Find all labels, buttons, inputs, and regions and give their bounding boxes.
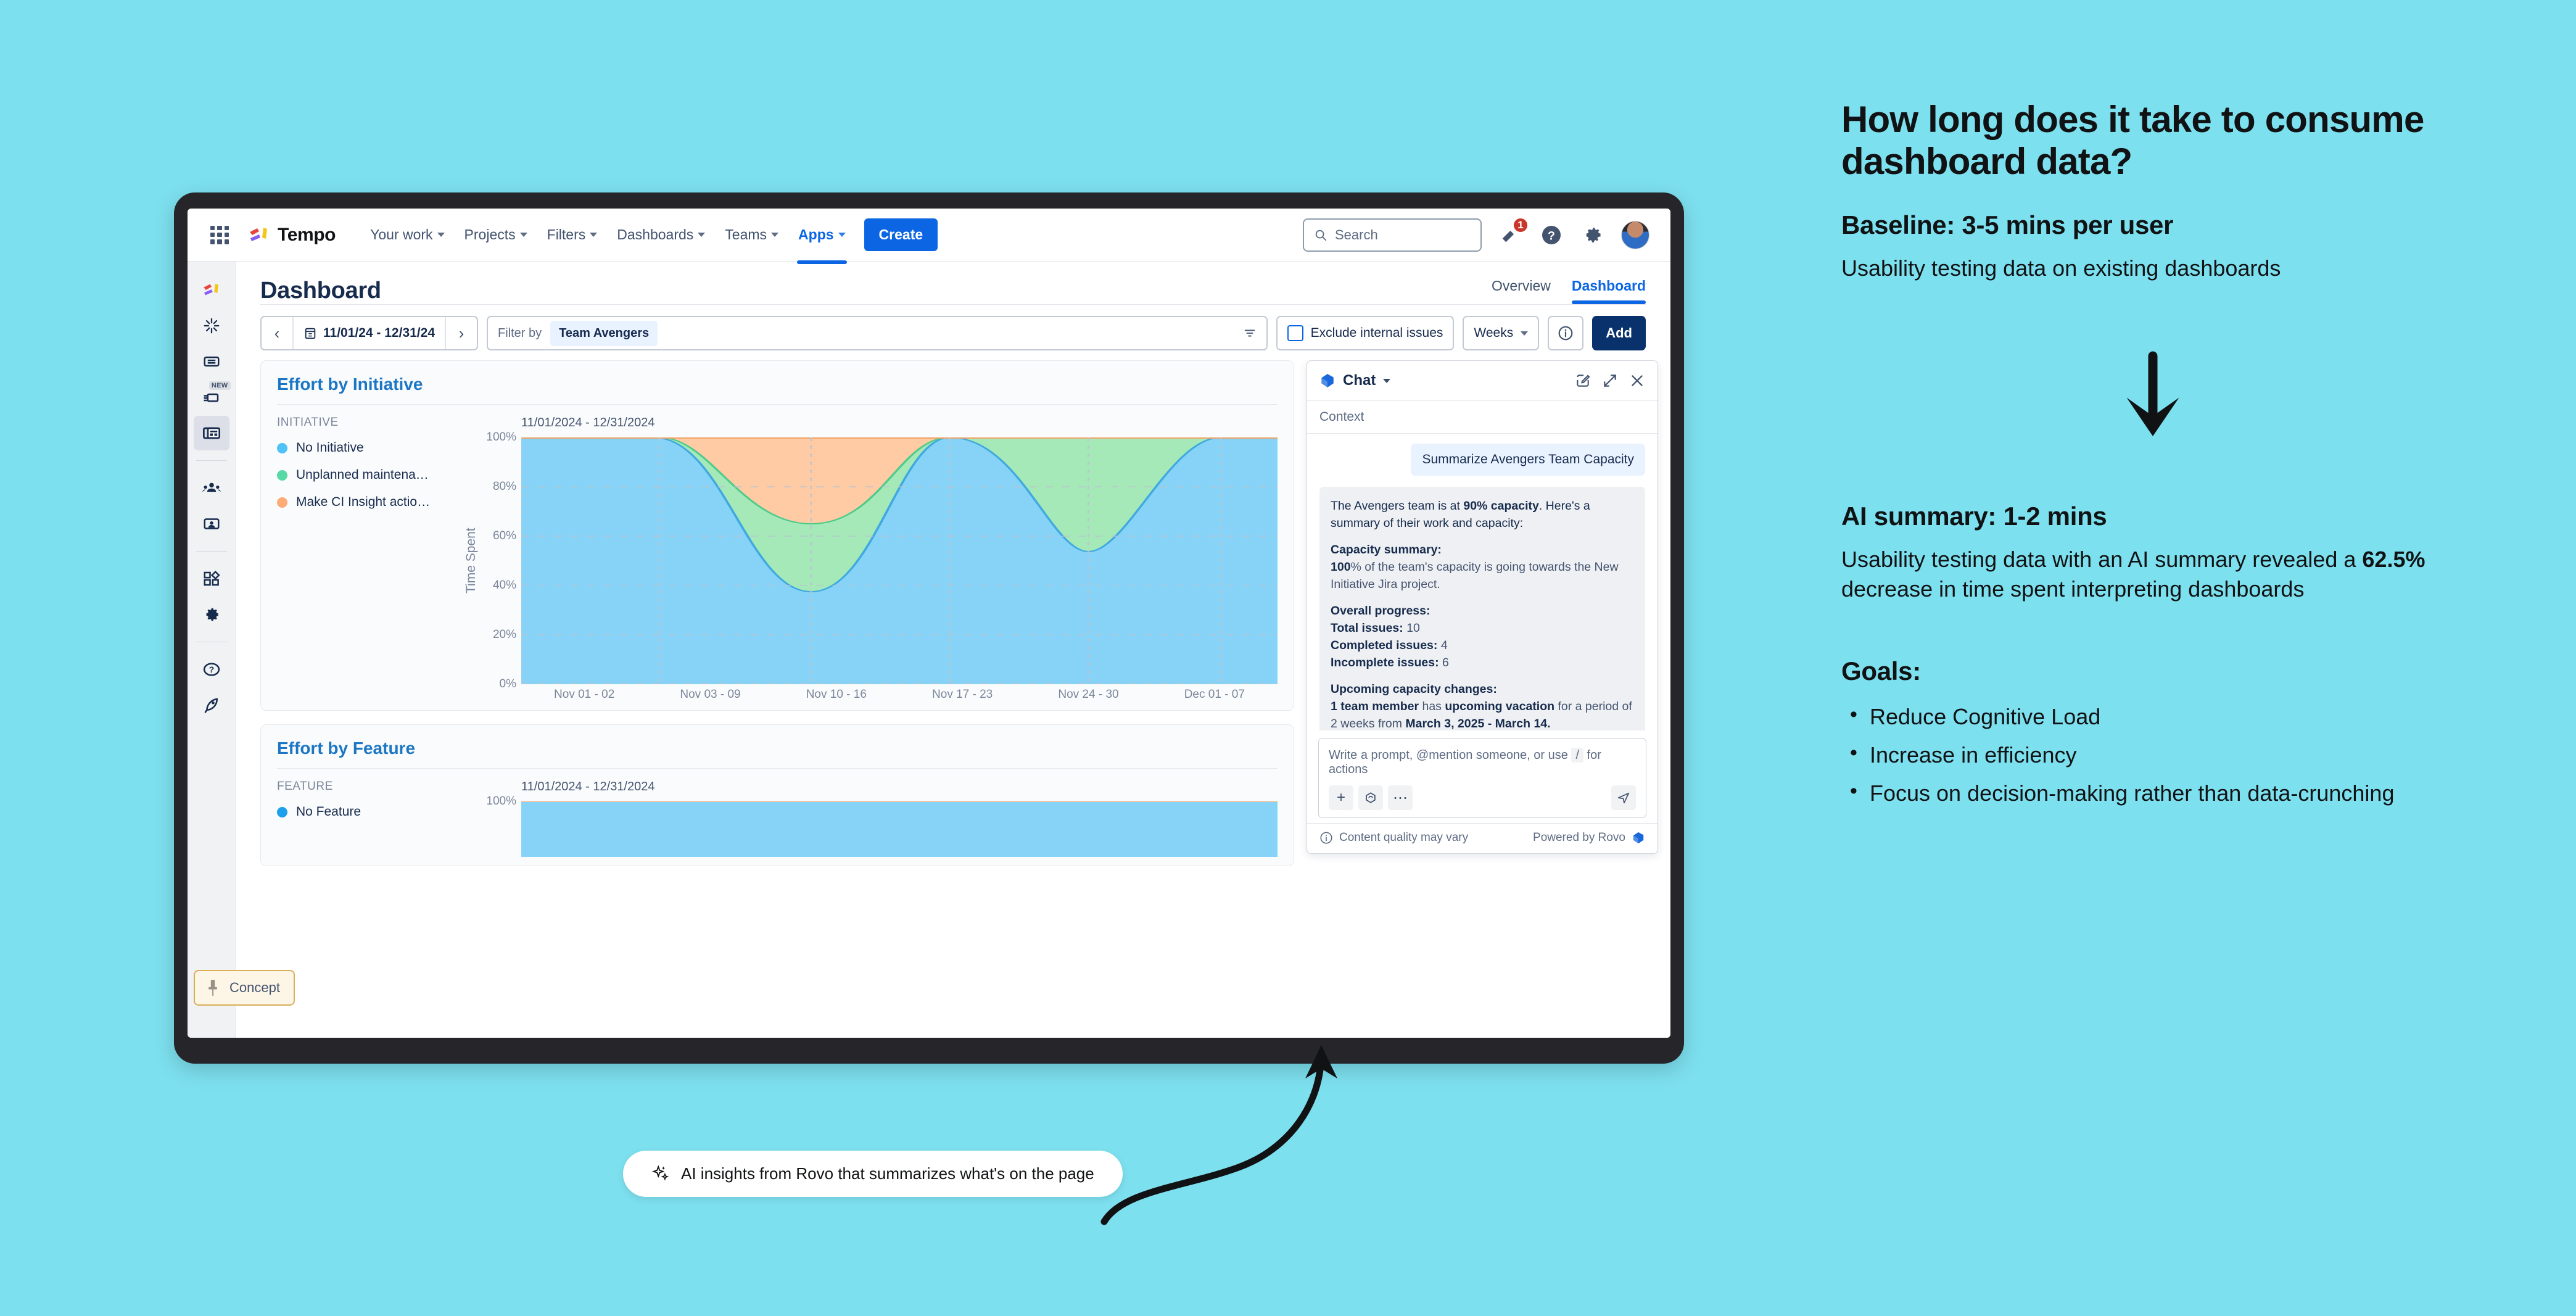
legend-color-dot (277, 807, 287, 817)
legend-label: No Initiative (296, 441, 364, 455)
chevron-down-icon (1521, 331, 1528, 336)
x-axis-ticks: Nov 01 - 02 Nov 03 - 09 Nov 10 - 16 Nov … (462, 688, 1278, 701)
nav-label: Your work (370, 226, 432, 243)
chevron-down-icon[interactable] (1383, 379, 1390, 383)
x-tick: Nov 24 - 30 (1025, 688, 1151, 701)
caption-pill: AI insights from Rovo that summarizes wh… (623, 1151, 1123, 1197)
sidebar-item-teams[interactable] (194, 471, 229, 505)
slash-key: / (1571, 748, 1583, 763)
date-range-picker: ‹ 11/01/24 - 12/31/24 (260, 316, 478, 350)
slide-canvas: Tempo Your work Projects Filters (0, 0, 2576, 1316)
x-tick: Nov 10 - 16 (774, 688, 899, 701)
tempo-logo-icon (201, 279, 222, 300)
headline: How long does it take to consume dashboa… (1841, 99, 2464, 183)
legend-item[interactable]: No Initiative (277, 441, 456, 455)
y-tick: 80% (493, 480, 516, 494)
y-axis-label (462, 801, 481, 857)
y-tick: 60% (493, 529, 516, 543)
info-icon (1319, 831, 1333, 845)
baseline-heading: Baseline: 3-5 mins per user (1841, 210, 2464, 240)
app-body: NEW (188, 262, 1670, 1038)
chart-plot-wrapper: 11/01/2024 - 12/31/2024 Time Spent 100% … (462, 416, 1278, 701)
settings-gear-icon (202, 605, 221, 624)
laptop-mockup: Tempo Your work Projects Filters (174, 192, 1684, 1064)
chevron-down-icon (590, 233, 597, 237)
goals-list-item: Reduce Cognitive Load (1841, 702, 2464, 732)
chevron-down-icon (838, 233, 846, 237)
filter-chip-team[interactable]: Team Avengers (550, 321, 658, 346)
pin-icon (205, 979, 221, 997)
chart-canvas (521, 437, 1278, 684)
svg-text:?: ? (1548, 229, 1555, 242)
y-tick: 100% (486, 431, 516, 444)
nav-item-filters[interactable]: Filters (539, 220, 606, 249)
sidebar-item-help[interactable]: ? (194, 652, 229, 687)
main-content: Dashboard Overview Dashboard ‹ (236, 262, 1670, 1038)
chat-footer-right: Powered by Rovo (1533, 831, 1625, 845)
page-header: Dashboard Overview Dashboard (236, 262, 1670, 304)
global-navigation: Tempo Your work Projects Filters (188, 209, 1670, 262)
send-icon[interactable] (1611, 785, 1636, 810)
rovo-icon (1319, 373, 1335, 389)
down-arrow-icon (1841, 350, 2464, 442)
left-sidebar: NEW (188, 262, 236, 1038)
sidebar-item-sparkle-burst[interactable] (194, 308, 229, 343)
chat-context-label: Context (1307, 401, 1657, 434)
search-input[interactable]: Search (1303, 218, 1482, 252)
sidebar-item-tempo-logo[interactable] (194, 273, 229, 307)
legend-item[interactable]: No Feature (277, 805, 456, 819)
curved-arrow (1086, 1037, 1406, 1228)
x-tick: Nov 03 - 09 (647, 688, 773, 701)
search-placeholder: Search (1335, 227, 1378, 243)
x-tick: Dec 01 - 07 (1152, 688, 1278, 701)
edit-icon[interactable] (1575, 373, 1591, 389)
legend-color-dot (277, 443, 287, 453)
tab-overview[interactable]: Overview (1492, 278, 1551, 304)
browser-screen: Tempo Your work Projects Filters (188, 209, 1670, 1038)
exclude-label: Exclude internal issues (1311, 326, 1443, 341)
calendar-icon (303, 326, 317, 340)
chat-user-message: Summarize Avengers Team Capacity (1411, 444, 1645, 476)
ai-summary-body: Usability testing data with an AI summar… (1841, 545, 2464, 604)
add-button[interactable]: Add (1592, 316, 1646, 350)
stacked-area-chart (521, 437, 1278, 684)
y-tick: 0% (500, 677, 516, 691)
ai-overall-progress: Overall progress: Total issues: 10 Compl… (1331, 603, 1634, 671)
y-tick: 100% (486, 795, 516, 808)
legend-color-dot (277, 497, 287, 508)
legend-header: FEATURE (277, 780, 456, 793)
sidebar-divider (196, 642, 227, 642)
y-axis-ticks: 100% (481, 801, 521, 857)
chart-legend: FEATURE No Feature (277, 780, 456, 857)
x-tick: Nov 17 - 23 (899, 688, 1025, 701)
gear-icon[interactable] (1579, 221, 1608, 249)
legend-label: Make CI Insight actio… (296, 495, 430, 510)
nav-label: Teams (725, 226, 767, 243)
chart-plot-wrapper: 11/01/2024 - 12/31/2024 100% (462, 780, 1278, 857)
granularity-select[interactable]: Weeks (1463, 316, 1539, 350)
sidebar-item-dashboards[interactable] (194, 416, 229, 450)
timesheet-icon (202, 352, 221, 371)
tab-dashboard[interactable]: Dashboard (1572, 278, 1646, 304)
chevron-down-icon (520, 233, 527, 237)
sparkle-burst-icon (202, 317, 221, 335)
create-button[interactable]: Create (864, 218, 938, 251)
notification-badge: 1 (1513, 217, 1529, 233)
sidebar-item-accounts[interactable] (194, 507, 229, 541)
chat-messages: Summarize Avengers Team Capacity The Ave… (1307, 434, 1657, 730)
chart-date-range: 11/01/2024 - 12/31/2024 (462, 416, 1278, 430)
dashboard-toolbar: ‹ 11/01/24 - 12/31/24 (236, 305, 1670, 360)
legend-color-dot (277, 470, 287, 481)
filter-bar[interactable]: Filter by Team Avengers (487, 316, 1268, 350)
app-switcher-icon[interactable] (208, 224, 231, 246)
chat-header: Chat (1307, 361, 1657, 401)
close-icon[interactable] (1629, 373, 1645, 389)
nav-item-projects[interactable]: Projects (456, 220, 536, 249)
ai-capacity-summary: Capacity summary: 100% of the team's cap… (1331, 542, 1634, 593)
chevron-right-icon[interactable]: › (446, 317, 477, 349)
area-chart (521, 801, 1278, 857)
chat-title: Chat (1343, 372, 1376, 389)
y-axis-label: Time Spent (462, 437, 481, 684)
chat-footer: Content quality may vary Powered by Rovo (1307, 823, 1657, 853)
nav-item-your-work[interactable]: Your work (361, 220, 453, 249)
rovo-agent-icon[interactable] (1358, 785, 1383, 810)
notification-bell-icon[interactable]: 1 (1495, 221, 1524, 249)
concept-label: Concept (229, 980, 280, 996)
gadget-effort-by-feature: Effort by Feature FEATURE No Feature (260, 724, 1294, 866)
help-circle-icon: ? (202, 660, 221, 679)
legend-label: No Feature (296, 805, 361, 819)
nav-right-actions: Search 1 ? (1303, 218, 1649, 252)
checkbox-box (1287, 325, 1303, 341)
chat-input[interactable]: Write a prompt, @mention someone, or use… (1318, 738, 1646, 818)
nav-item-dashboards[interactable]: Dashboards (608, 220, 714, 249)
chevron-down-icon (698, 233, 705, 237)
ai-upcoming-changes: Upcoming capacity changes: 1 team member… (1331, 681, 1634, 730)
plus-icon[interactable]: + (1329, 785, 1353, 810)
chart-canvas (521, 801, 1278, 857)
tempo-logo-icon (247, 223, 271, 247)
gadget-column: Effort by Initiative INITIATIVE No Initi… (236, 360, 1294, 1038)
reports-icon (202, 388, 221, 407)
legend-header: INITIATIVE (277, 416, 456, 429)
y-axis-ticks: 100% 80% 60% 40% 20% 0% (481, 437, 521, 684)
y-tick: 40% (493, 579, 516, 592)
x-tick: Nov 01 - 02 (521, 688, 647, 701)
nav-label: Dashboards (617, 226, 693, 243)
gadget-divider (277, 768, 1278, 769)
chat-footer-left: Content quality may vary (1339, 831, 1468, 845)
gadget-divider (277, 404, 1278, 405)
granularity-value: Weeks (1474, 326, 1513, 341)
dashboards-icon (202, 423, 221, 443)
chat-input-placeholder: Write a prompt, @mention someone, or use… (1329, 748, 1636, 777)
chevron-down-icon (437, 233, 445, 237)
sidebar-item-rocket[interactable] (194, 688, 229, 722)
teams-icon (202, 478, 221, 498)
info-icon (1558, 325, 1574, 341)
ai-summary-heading: AI summary: 1-2 mins (1841, 502, 2464, 531)
page-title: Dashboard (260, 278, 381, 304)
page-tabs: Overview Dashboard (1492, 278, 1646, 304)
exclude-internal-issues-checkbox[interactable]: Exclude internal issues (1276, 316, 1455, 350)
more-icon[interactable]: ⋯ (1388, 785, 1413, 810)
chart-date-range: 11/01/2024 - 12/31/2024 (462, 780, 1278, 794)
caption-text: AI insights from Rovo that summarizes wh… (681, 1164, 1094, 1183)
nav-label: Apps (798, 226, 834, 243)
chat-toolbar: + ⋯ (1329, 785, 1636, 810)
rovo-icon (1632, 831, 1645, 845)
goals-list: Reduce Cognitive Load Increase in effici… (1841, 702, 2464, 808)
sidebar-divider (196, 551, 227, 552)
nav-item-teams[interactable]: Teams (716, 220, 787, 249)
sidebar-item-settings[interactable] (194, 597, 229, 632)
nav-item-apps[interactable]: Apps (790, 220, 854, 249)
sidebar-item-apps[interactable] (194, 561, 229, 596)
right-text-panel: How long does it take to consume dashboa… (1841, 99, 2464, 817)
brand-home-link[interactable]: Tempo (247, 223, 336, 247)
brand-name: Tempo (278, 225, 336, 246)
gadget-title: Effort by Feature (277, 739, 1278, 758)
expand-icon[interactable] (1602, 373, 1618, 389)
date-range-value[interactable]: 11/01/24 - 12/31/24 (294, 326, 445, 341)
date-range-text: 11/01/24 - 12/31/24 (323, 326, 435, 341)
gadget-effort-by-initiative: Effort by Initiative INITIATIVE No Initi… (260, 360, 1294, 711)
rovo-chat-panel: Chat (1307, 360, 1658, 854)
svg-text:?: ? (208, 665, 213, 674)
info-button[interactable] (1548, 316, 1583, 350)
search-icon (1314, 228, 1327, 242)
accounts-icon (202, 515, 221, 533)
goals-list-item: Focus on decision-making rather than dat… (1841, 779, 2464, 808)
ai-intro: The Avengers team is at 90% capacity. He… (1331, 498, 1634, 532)
chat-ai-message: The Avengers team is at 90% capacity. He… (1319, 487, 1645, 730)
filter-by-label: Filter by (498, 326, 542, 341)
dashboard-grid: Effort by Initiative INITIATIVE No Initi… (236, 360, 1670, 1038)
chat-composer: Write a prompt, @mention someone, or use… (1307, 730, 1657, 823)
ai-sparkle-icon (651, 1165, 670, 1183)
apps-grid-icon (202, 569, 221, 588)
legend-item[interactable]: Make CI Insight actio… (277, 495, 456, 510)
goals-heading: Goals: (1841, 656, 2464, 686)
chevron-left-icon[interactable]: ‹ (262, 317, 292, 349)
chevron-down-icon (771, 233, 778, 237)
new-badge: NEW (209, 381, 231, 390)
chart-plot-area: Time Spent 100% 80% 60% 40% 20% 0 (462, 437, 1278, 684)
nav-label: Projects (464, 226, 516, 243)
filter-icon[interactable] (1243, 326, 1257, 340)
sidebar-item-reports[interactable]: NEW (194, 380, 229, 415)
rocket-icon (202, 696, 221, 714)
chart-legend: INITIATIVE No Initiative Unplanned maint… (277, 416, 456, 701)
primary-nav: Your work Projects Filters Dashboards (361, 218, 938, 251)
sidebar-divider (196, 460, 227, 461)
avatar[interactable] (1621, 221, 1649, 249)
nav-label: Filters (547, 226, 586, 243)
y-tick: 20% (493, 628, 516, 642)
legend-label: Unplanned maintena… (296, 468, 429, 482)
goals-list-item: Increase in efficiency (1841, 740, 2464, 770)
baseline-body: Usability testing data on existing dashb… (1841, 254, 2464, 283)
concept-badge: Concept (194, 970, 295, 1006)
sidebar-item-timesheet[interactable] (194, 344, 229, 379)
help-icon[interactable]: ? (1537, 221, 1566, 249)
legend-item[interactable]: Unplanned maintena… (277, 468, 456, 482)
gadget-title: Effort by Initiative (277, 375, 1278, 394)
chart-plot-area: 100% (462, 801, 1278, 857)
